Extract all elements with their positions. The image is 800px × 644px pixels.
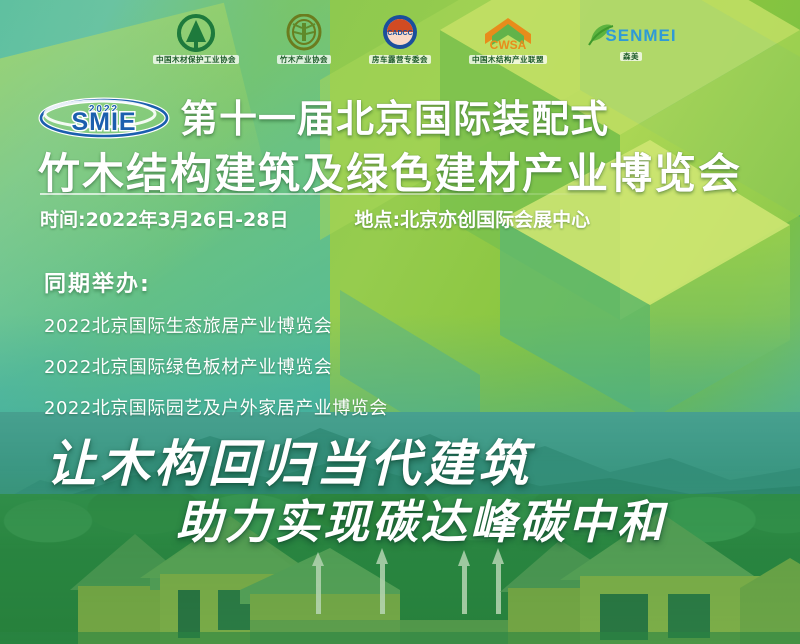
title-line-2: 竹木结构建筑及绿色建材产业博览会: [38, 153, 778, 195]
headline-block: 2022 SMIE 第十一届北京国际装配式 竹木结构建筑及绿色建材产业博览会: [38, 92, 778, 195]
logo-caption: 森美: [620, 52, 642, 62]
bamboo-oval-emblem: [282, 14, 326, 54]
title-line-1: 第十一届北京国际装配式: [180, 100, 609, 138]
concurrent-event-item: 2022北京国际生态旅居产业博览会: [44, 312, 388, 338]
leaf-senmei-emblem: SENMEI: [585, 17, 677, 51]
headline-row-1: 2022 SMIE 第十一届北京国际装配式: [38, 92, 778, 145]
logo-caption: 竹木产业协会: [277, 55, 331, 65]
concurrent-event-item: 2022北京国际绿色板材产业博览会: [44, 353, 388, 379]
concurrent-event-item: 2022北京国际园艺及户外家居产业博览会: [44, 394, 388, 420]
senmei-logo[interactable]: SENMEI 森美: [585, 17, 677, 62]
slogan-line-2: 助力实现碳达峰碳中和: [176, 486, 666, 552]
event-meta: 时间:2022年3月26日-28日 地点:北京亦创国际会展中心: [40, 205, 590, 232]
svg-text:SENMEI: SENMEI: [605, 26, 676, 45]
cadcc-rv-camping-committee-logo[interactable]: CADCC 房车露营专委会: [369, 14, 431, 65]
logo-caption: 中国木材保护工业协会: [153, 55, 239, 65]
bamboo-industry-association-logo[interactable]: 竹木产业协会: [277, 14, 331, 65]
house-cwsa-emblem: CWSA: [479, 14, 537, 54]
logo-caption: 中国木结构产业联盟: [469, 55, 547, 65]
cadcc-circle-emblem: CADCC: [378, 14, 422, 54]
sponsor-logo-strip: 中国木材保护工业协会 竹木产业协会 CADCC 房车露营专委会: [0, 0, 800, 78]
svg-text:SMIE: SMIE: [71, 108, 136, 136]
event-venue: 地点:北京亦创国际会展中心: [354, 205, 590, 232]
svg-text:CWSA: CWSA: [490, 38, 527, 52]
tree-shield-emblem: [173, 14, 219, 54]
title-divider: [40, 193, 600, 195]
cwsa-wood-structure-alliance-logo[interactable]: CWSA 中国木结构产业联盟: [469, 14, 547, 65]
exhibition-poster: 中国木材保护工业协会 竹木产业协会 CADCC 房车露营专委会: [0, 0, 800, 644]
logo-caption: 房车露营专委会: [369, 55, 431, 65]
concurrent-heading: 同期举办:: [44, 266, 388, 298]
event-date: 时间:2022年3月26日-28日: [40, 205, 288, 232]
concurrent-events-block: 同期举办: 2022北京国际生态旅居产业博览会 2022北京国际绿色板材产业博览…: [44, 266, 388, 435]
smie-brand-logo[interactable]: 2022 SMIE: [38, 92, 170, 145]
china-wood-protection-association-logo[interactable]: 中国木材保护工业协会: [153, 14, 239, 65]
svg-text:CADCC: CADCC: [387, 30, 412, 37]
